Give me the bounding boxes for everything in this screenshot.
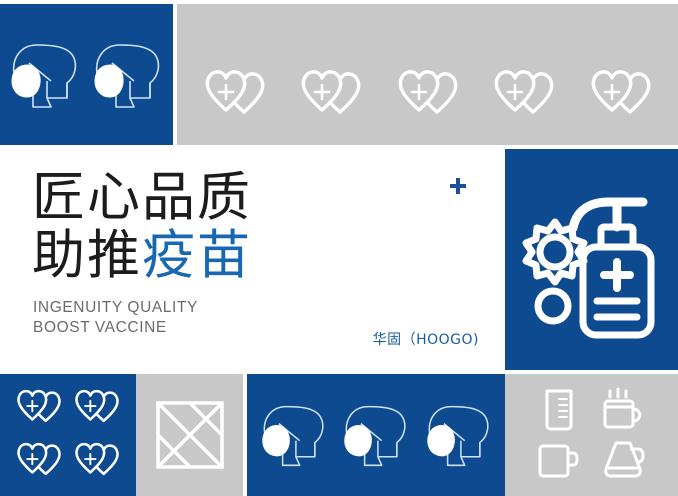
brand-name: 华固（HOOGO) <box>373 329 479 349</box>
beaker-icon <box>539 387 579 433</box>
headline-line-2: 助推疫苗 <box>32 227 252 285</box>
crossed-square-wrap <box>136 374 243 496</box>
masked-face-row-panel <box>247 374 505 496</box>
masked-face-icon <box>423 397 495 473</box>
double-heart-plus-icon <box>389 65 467 127</box>
heart-plus-panel <box>177 4 678 145</box>
circle-icon <box>538 291 568 321</box>
bottle-plus-icon <box>604 262 630 288</box>
plus-icon <box>448 176 468 196</box>
double-heart-plus-icon <box>10 386 68 432</box>
poster-canvas: 匠心品质 助推疫苗 INGENUITY QUALITY BOOST VACCIN… <box>0 0 678 496</box>
masked-face-row <box>247 374 505 496</box>
masked-face-icon <box>7 35 83 115</box>
steaming-cup-icon <box>600 387 648 433</box>
double-heart-plus-icon <box>582 65 660 127</box>
masked-face-icon <box>340 397 412 473</box>
heart-plus-grid-panel <box>0 374 136 496</box>
double-heart-plus-icon <box>292 65 370 127</box>
glassware-panel <box>505 374 678 496</box>
masked-face-icon-row <box>0 4 173 145</box>
double-heart-plus-icon <box>10 439 68 485</box>
bottle-label-lines-icon <box>597 301 637 317</box>
double-heart-plus-icon <box>196 65 274 127</box>
headline-line-2-accent: 疫苗 <box>142 225 252 286</box>
masked-face-panel <box>0 4 173 145</box>
crossed-square-icon <box>155 400 225 470</box>
masked-face-icon <box>90 35 166 115</box>
double-heart-plus-icon <box>68 439 126 485</box>
headline-block: 匠心品质 助推疫苗 <box>32 169 252 285</box>
subtitle-block: INGENUITY QUALITY BOOST VACCINE <box>33 298 198 338</box>
headline-line-2-black: 助推 <box>32 225 142 286</box>
placeholder-panel <box>136 374 243 496</box>
kettle-icon <box>600 439 648 483</box>
double-heart-plus-icon <box>485 65 563 127</box>
subtitle-line-2: BOOST VACCINE <box>33 318 198 338</box>
glassware-grid <box>505 374 678 496</box>
heart-plus-icon-row <box>177 53 678 139</box>
masked-face-icon <box>258 397 330 473</box>
headline-line-1: 匠心品质 <box>32 169 252 227</box>
sanitizer-bottle-icon <box>517 175 667 345</box>
headline-panel: 匠心品质 助推疫苗 INGENUITY QUALITY BOOST VACCIN… <box>0 149 501 370</box>
sanitizer-panel <box>505 149 678 370</box>
heart-plus-grid <box>0 374 136 496</box>
sanitizer-icon-group <box>505 149 678 370</box>
subtitle-line-1: INGENUITY QUALITY <box>33 298 198 318</box>
mug-icon <box>536 440 582 482</box>
double-heart-plus-icon <box>68 386 126 432</box>
